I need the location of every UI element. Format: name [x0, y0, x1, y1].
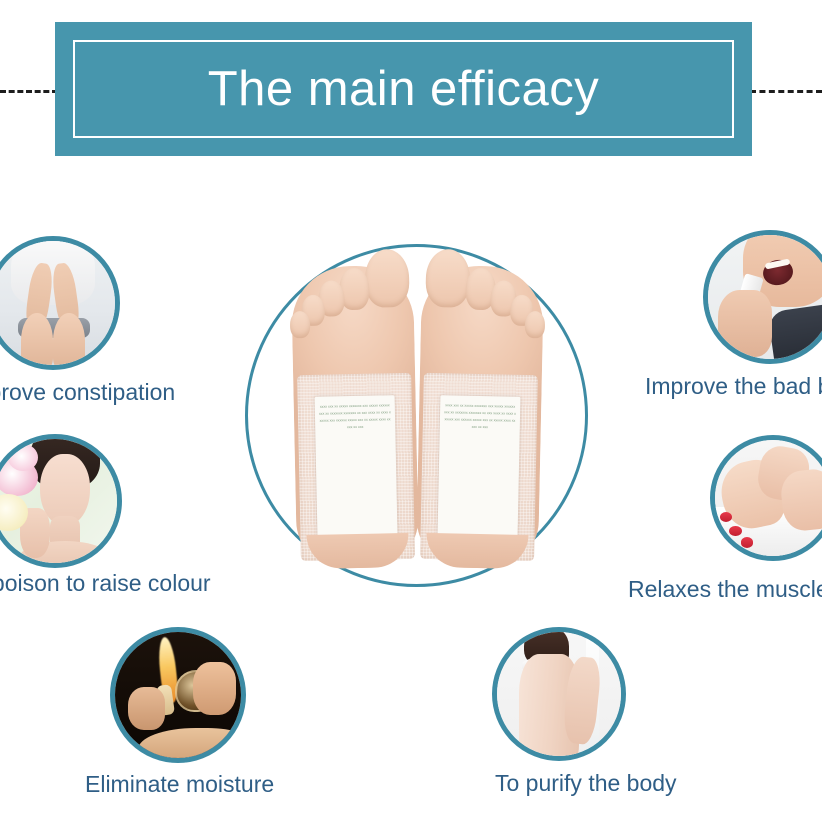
feature-caption-relaxes-muscles: Relaxes the muscles [628, 576, 822, 603]
feature-photo-constipation [0, 236, 120, 370]
foot-patch-label-right: xxxx xxx xx xxxxx xxxxxxx xxx xxxxx xxxx… [438, 395, 521, 537]
feature-caption-purify-body: To purify the body [495, 770, 677, 797]
toe-5-left [290, 311, 311, 338]
feature-caption-constipation: Improve constipation [0, 379, 175, 406]
feature-caption-eliminate-moisture: Eliminate moisture [85, 771, 274, 798]
page-title: The main efficacy [55, 61, 752, 117]
foot-patch-microtext-right: xxxx xxx xx xxxxx xxxxxxx xxx xxxxx xxxx… [444, 402, 517, 432]
feature-photo-relaxes-muscles [710, 435, 822, 561]
toe-big-right [425, 249, 470, 308]
feature-photo-purify-body [492, 627, 626, 761]
feature-photo-eliminate-moisture [110, 627, 246, 763]
photo-seated-woman-holding-knees [0, 241, 115, 365]
photo-fire-cupping-therapy [115, 632, 241, 758]
left-foot: xxxx xxx xx xxxxx xxxxxxx xxx xxxxx xxxx… [291, 265, 419, 569]
header-dashed-line-left [0, 90, 58, 93]
foot-patch-microtext-left: xxxx xxx xx xxxxx xxxxxxx xxx xxxxx xxxx… [319, 402, 392, 432]
feature-photo-bad-breath [703, 230, 822, 364]
toe-big-left [364, 249, 409, 308]
right-foot: xxxx xxx xx xxxxx xxxxxxx xxx xxxxx xxxx… [416, 265, 544, 569]
heel-left [306, 533, 409, 569]
header-dashed-line-right [750, 90, 822, 93]
heel-right [426, 533, 529, 569]
header-banner: The main efficacy [55, 22, 752, 156]
toe-5-right [525, 311, 546, 338]
product-infographic-poster: The main efficacy xxxx xxx xx xxxxx xxxx… [0, 0, 822, 822]
feature-photo-raise-colour [0, 434, 122, 568]
feature-caption-bad-breath: Improve the bad breath [645, 373, 822, 400]
detox-foot-patch-image: xxxx xxx xx xxxxx xxxxxxx xxx xxxxx xxxx… [286, 248, 549, 578]
photo-woman-bare-back-shower [497, 632, 621, 756]
photo-man-using-breath-spray [708, 235, 822, 359]
feature-caption-raise-colour: Discharge poison to raise colour [0, 570, 211, 597]
photo-woman-face-with-flowers [0, 439, 117, 563]
foot-patch-label-left: xxxx xxx xx xxxxx xxxxxxx xxx xxxxx xxxx… [315, 395, 398, 537]
photo-foot-massage-hands [715, 440, 822, 556]
